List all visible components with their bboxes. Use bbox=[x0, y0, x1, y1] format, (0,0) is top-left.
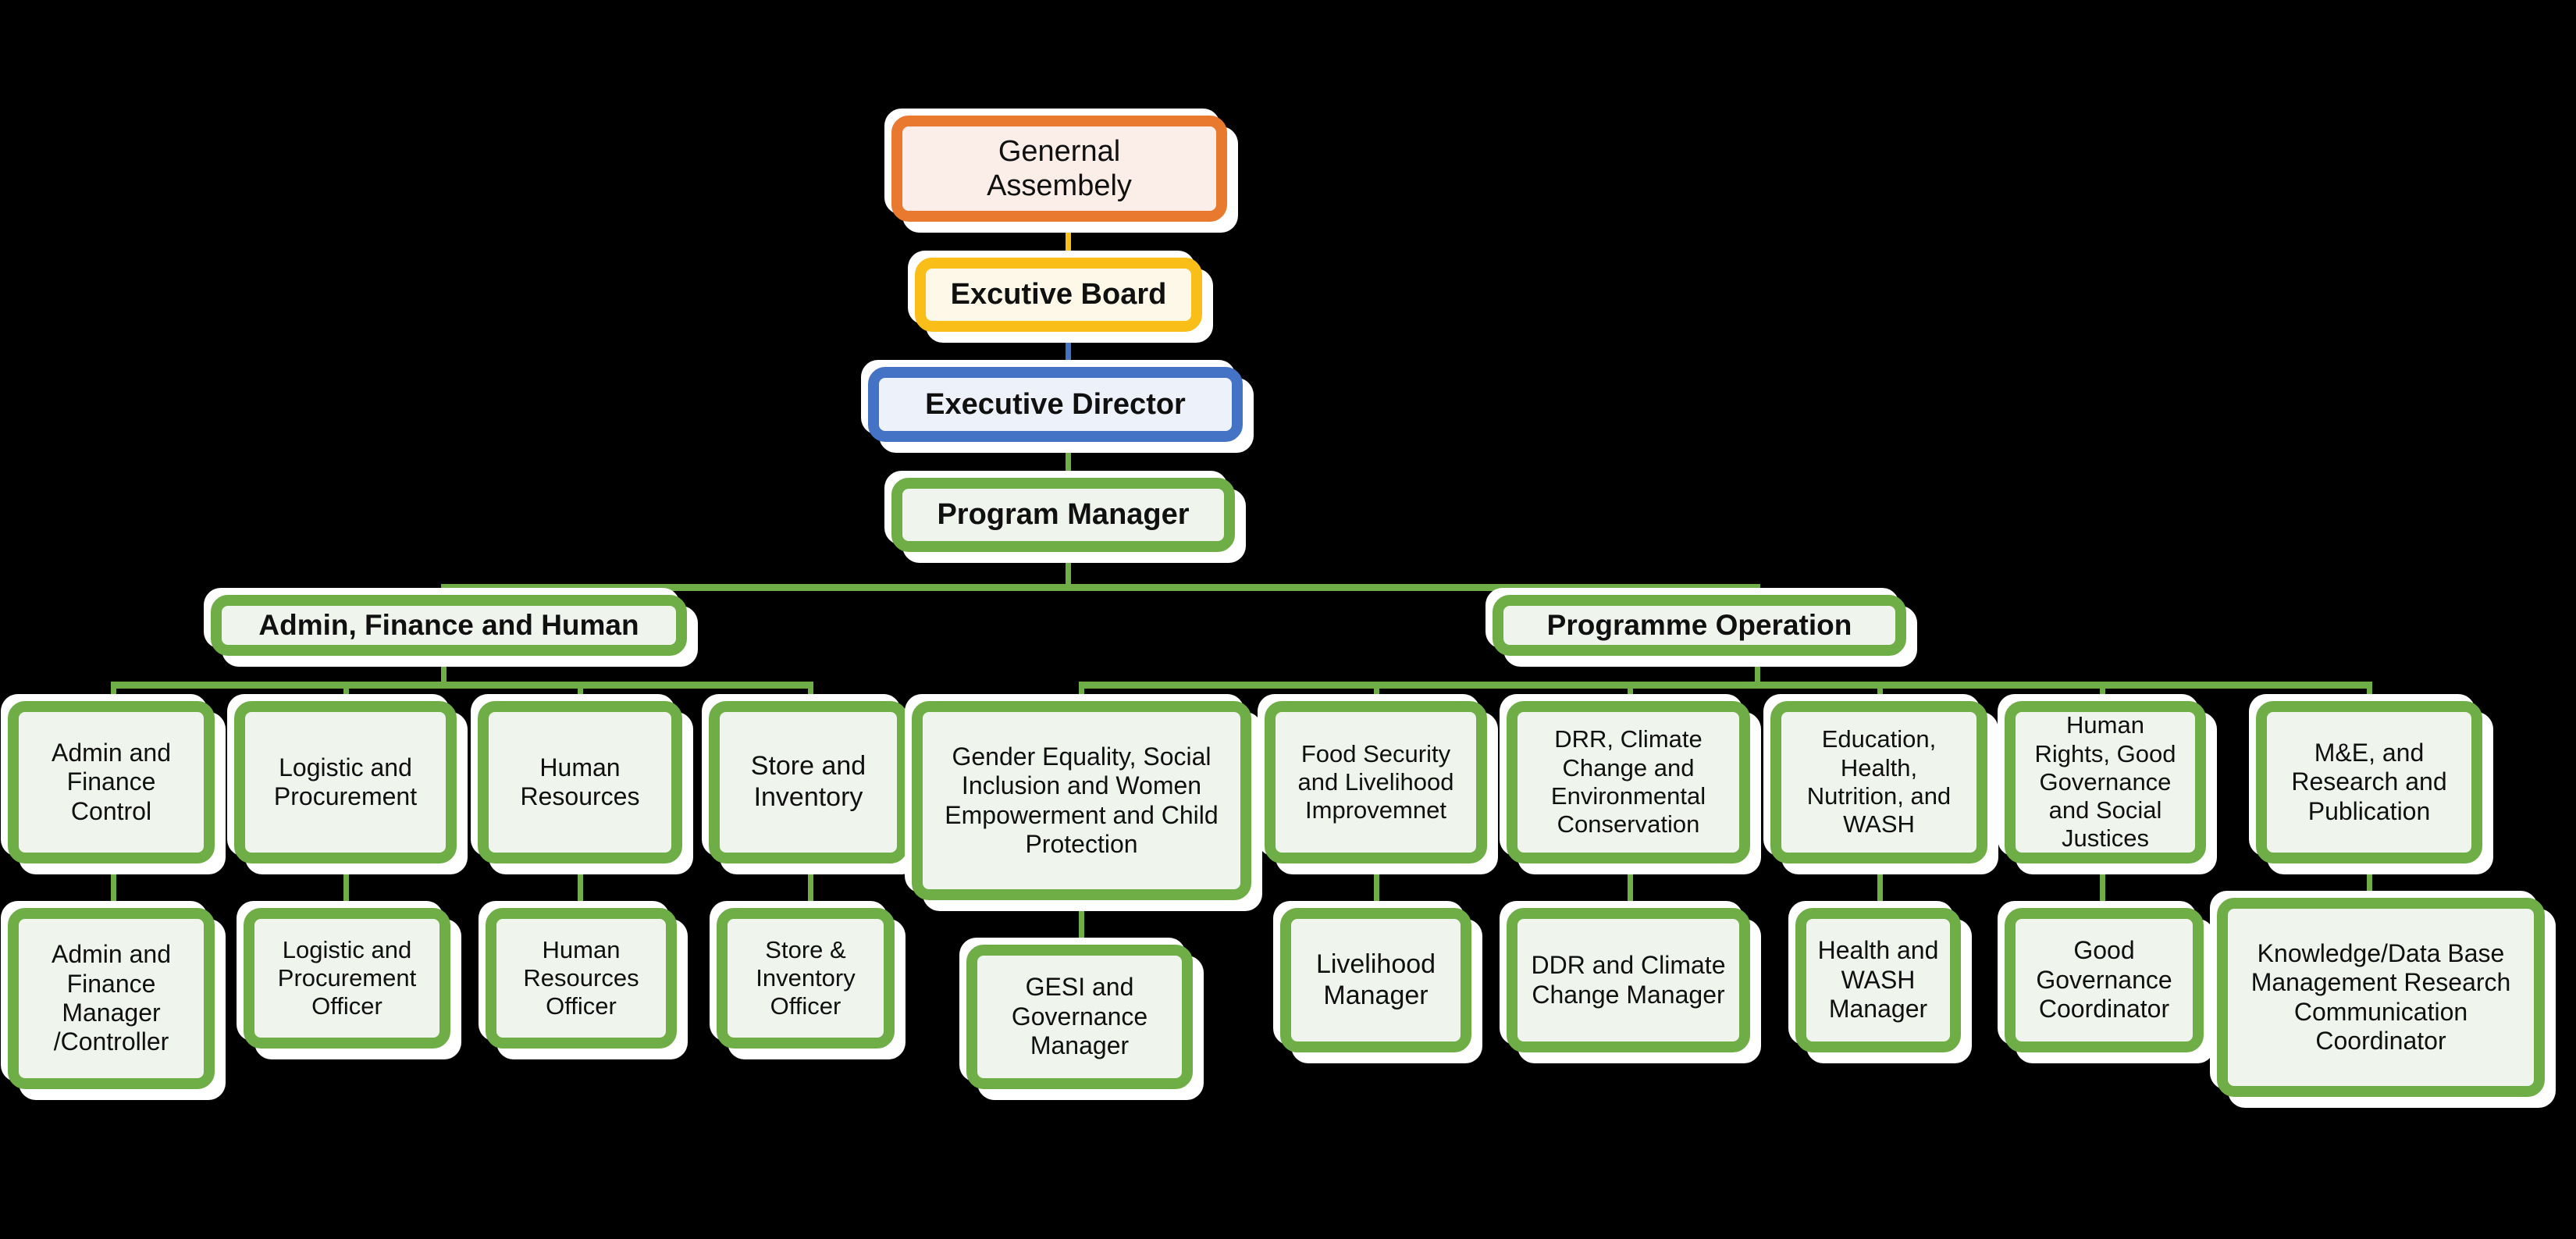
connector-si-to-sio bbox=[808, 863, 813, 910]
connector-programme-bus bbox=[1079, 682, 2370, 689]
node-executive-director[interactable]: Executive Director bbox=[868, 367, 1243, 442]
org-chart: Genernal Assembely Excutive Board Execut… bbox=[0, 0, 2576, 1239]
node-human-rights-theme[interactable]: Human Rights, Good Governance and Social… bbox=[2005, 701, 2206, 863]
connector-pm-bus bbox=[441, 584, 1760, 591]
node-executive-director-label: Executive Director bbox=[879, 387, 1232, 422]
node-gesi-theme[interactable]: Gender Equality, Social Inclusion and Wo… bbox=[912, 701, 1251, 900]
connector-director-to-pm bbox=[1066, 441, 1071, 479]
node-general-assembly[interactable]: Genernal Assembely bbox=[891, 116, 1227, 222]
connector-board-to-director bbox=[1066, 331, 1071, 367]
connector-rights-theme-to-coordinator bbox=[2100, 863, 2105, 910]
node-admin-department[interactable]: Admin, Finance and Human bbox=[211, 595, 687, 656]
node-logistic-procurement[interactable]: Logistic and Procurement bbox=[234, 701, 457, 863]
node-logistic-procurement-officer[interactable]: Logistic and Procurement Officer bbox=[244, 908, 450, 1049]
node-health-wash-manager[interactable]: Health and WASH Manager bbox=[1795, 908, 1961, 1052]
node-store-inventory-officer-label: Store & Inventory Officer bbox=[728, 936, 884, 1021]
node-good-governance-coordinator-label: Good Governance Coordinator bbox=[2016, 936, 2193, 1024]
node-programme-operation[interactable]: Programme Operation bbox=[1493, 595, 1906, 656]
node-good-governance-coordinator[interactable]: Good Governance Coordinator bbox=[2005, 908, 2204, 1052]
node-gesi-theme-label: Gender Equality, Social Inclusion and Wo… bbox=[923, 742, 1240, 860]
node-knowledge-coordinator-label: Knowledge/Data Base Management Research … bbox=[2228, 939, 2534, 1056]
node-drr-theme-label: DRR, Climate Change and Environmental Co… bbox=[1517, 725, 1739, 838]
connector-admin-bus bbox=[111, 682, 813, 689]
node-education-theme-label: Education, Health, Nutrition, and WASH bbox=[1781, 725, 1976, 838]
node-human-resources[interactable]: Human Resources bbox=[478, 701, 682, 863]
node-logistic-procurement-label: Logistic and Procurement bbox=[245, 753, 446, 812]
node-health-wash-manager-label: Health and WASH Manager bbox=[1806, 936, 1950, 1024]
node-admin-finance-control[interactable]: Admin and Finance Control bbox=[8, 701, 215, 863]
node-ddr-climate-manager-label: DDR and Climate Change Manager bbox=[1517, 951, 1739, 1009]
node-gesi-manager-label: GESI and Governance Manager bbox=[977, 973, 1182, 1060]
connector-afc-to-afm bbox=[111, 863, 116, 910]
node-ddr-climate-manager[interactable]: DDR and Climate Change Manager bbox=[1507, 908, 1750, 1052]
node-livelihood-manager[interactable]: Livelihood Manager bbox=[1280, 908, 1471, 1052]
node-admin-finance-control-label: Admin and Finance Control bbox=[19, 739, 204, 826]
connector-food-theme-to-manager bbox=[1374, 863, 1379, 910]
node-program-manager-label: Program Manager bbox=[902, 497, 1224, 532]
node-general-assembly-label: Genernal Assembely bbox=[902, 134, 1216, 204]
node-human-resources-officer[interactable]: Human Resources Officer bbox=[486, 908, 677, 1049]
node-program-manager[interactable]: Program Manager bbox=[891, 478, 1235, 552]
connector-ga-to-board bbox=[1066, 220, 1071, 258]
connector-pm-stub bbox=[1066, 550, 1071, 588]
node-human-resources-officer-label: Human Resources Officer bbox=[496, 936, 666, 1021]
node-store-inventory-officer[interactable]: Store & Inventory Officer bbox=[717, 908, 895, 1049]
connector-gesi-theme-to-manager bbox=[1079, 899, 1084, 946]
node-admin-department-label: Admin, Finance and Human bbox=[222, 608, 676, 642]
connector-lp-to-lpo bbox=[343, 863, 349, 910]
node-me-research-theme[interactable]: M&E, and Research and Publication bbox=[2256, 701, 2482, 863]
node-admin-finance-manager[interactable]: Admin and Finance Manager /Controller bbox=[8, 908, 215, 1089]
node-gesi-manager[interactable]: GESI and Governance Manager bbox=[966, 945, 1193, 1089]
node-human-rights-theme-label: Human Rights, Good Governance and Social… bbox=[2016, 711, 2195, 853]
node-logistic-procurement-officer-label: Logistic and Procurement Officer bbox=[254, 936, 439, 1021]
node-food-security-theme-label: Food Security and Livelihood Improvemnet bbox=[1276, 740, 1476, 825]
node-executive-board[interactable]: Excutive Board bbox=[915, 258, 1202, 332]
node-livelihood-manager-label: Livelihood Manager bbox=[1291, 949, 1461, 1012]
node-admin-finance-manager-label: Admin and Finance Manager /Controller bbox=[19, 940, 204, 1057]
node-me-research-theme-label: M&E, and Research and Publication bbox=[2267, 739, 2471, 826]
node-knowledge-coordinator[interactable]: Knowledge/Data Base Management Research … bbox=[2217, 898, 2545, 1097]
connector-education-theme-to-manager bbox=[1877, 863, 1883, 910]
connector-drr-theme-to-manager bbox=[1628, 863, 1633, 910]
node-store-inventory[interactable]: Store and Inventory bbox=[709, 701, 908, 863]
node-executive-board-label: Excutive Board bbox=[926, 277, 1191, 312]
node-store-inventory-label: Store and Inventory bbox=[720, 751, 897, 814]
connector-hr-to-hro bbox=[578, 863, 583, 910]
node-food-security-theme[interactable]: Food Security and Livelihood Improvemnet bbox=[1265, 701, 1487, 863]
node-drr-theme[interactable]: DRR, Climate Change and Environmental Co… bbox=[1507, 701, 1750, 863]
node-human-resources-label: Human Resources bbox=[489, 753, 671, 812]
node-programme-operation-label: Programme Operation bbox=[1503, 608, 1895, 642]
node-education-theme[interactable]: Education, Health, Nutrition, and WASH bbox=[1770, 701, 1987, 863]
